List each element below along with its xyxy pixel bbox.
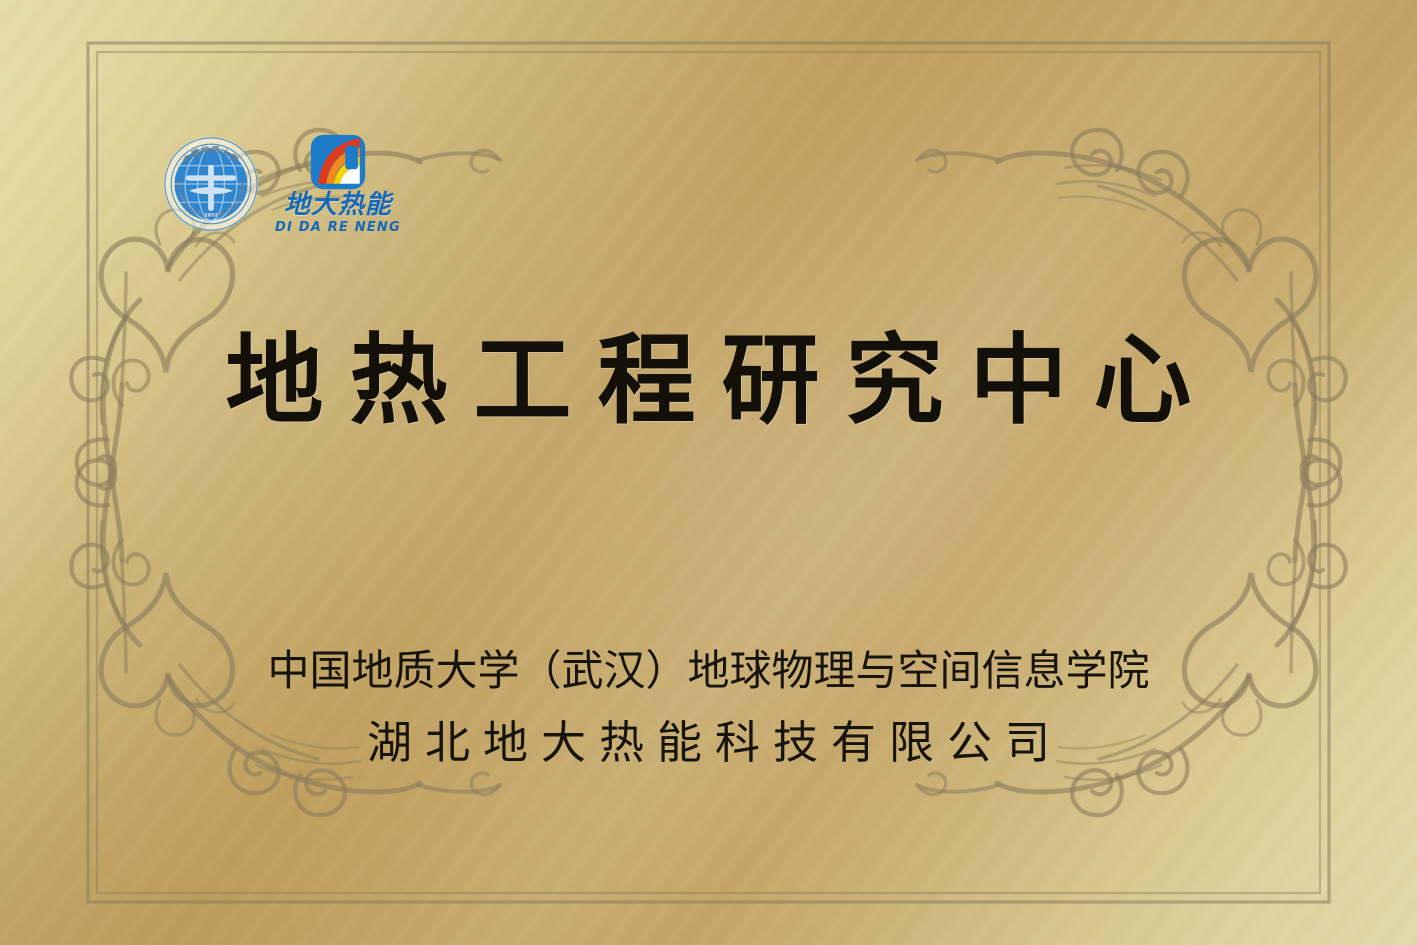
china-university-of-geosciences-seal: 中国地质大学 CHINA UNIVERSITY OF GEOSCIENCES 1… [163, 136, 259, 232]
logo-row: 中国地质大学 CHINA UNIVERSITY OF GEOSCIENCES 1… [163, 133, 401, 234]
company-name-en: DI DA RE NENG [275, 221, 401, 234]
plaque-title: 地热工程研究中心 [0, 330, 1417, 433]
didareneng-logo: 地大热能 DI DA RE NENG [275, 133, 401, 234]
award-plaque: 中国地质大学 CHINA UNIVERSITY OF GEOSCIENCES 1… [0, 0, 1417, 945]
company-name-cn: 地大热能 [284, 192, 392, 218]
plaque-subtitle-line-2: 湖北地大热能科技有限公司 [0, 706, 1417, 771]
svg-text:1952: 1952 [204, 212, 217, 218]
plaque-subtitle-line-1: 中国地质大学（武汉）地球物理与空间信息学院 [0, 637, 1417, 698]
didareneng-mark-icon [309, 133, 367, 191]
